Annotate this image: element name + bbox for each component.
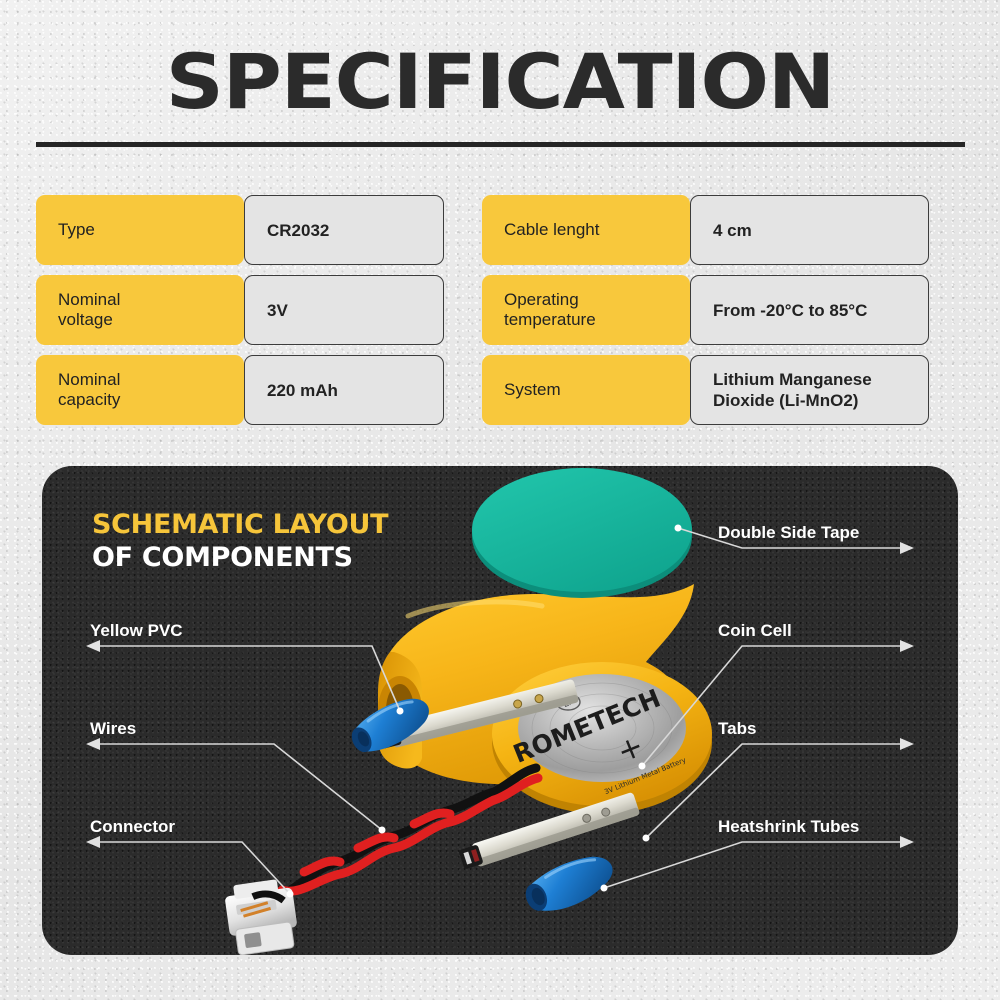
callout-coin-cell: Coin Cell (718, 621, 792, 641)
specification-table: Type CR2032 Cable lenght 4 cm Nominal vo… (36, 195, 965, 425)
heatshrink-tube-lower-part (519, 848, 620, 921)
callout-heatshrink-tubes: Heatshrink Tubes (718, 817, 859, 837)
spec-label: Nominal voltage (36, 275, 244, 345)
callout-yellow-pvc: Yellow PVC (90, 621, 183, 641)
schematic-panel: SCHEMATIC LAYOUT OF COMPONENTS (42, 466, 958, 955)
spec-value: From -20°C to 85°C (690, 275, 929, 345)
spec-label: Type (36, 195, 244, 265)
spec-label: Cable lenght (482, 195, 690, 265)
callout-wires: Wires (90, 719, 136, 739)
spec-label: System (482, 355, 690, 425)
coin-cell-part: ROMETECH + 3V Lithium Metal Battery Li (492, 662, 712, 814)
spec-value: 4 cm (690, 195, 929, 265)
spec-label: Operating temperature (482, 275, 690, 345)
header-divider (36, 142, 965, 147)
spec-value: 3V (244, 275, 444, 345)
page-title: SPECIFICATION (0, 44, 1000, 120)
connector-part (223, 877, 300, 955)
spec-value: 220 mAh (244, 355, 444, 425)
callout-tabs: Tabs (718, 719, 756, 739)
callout-connector: Connector (90, 817, 175, 837)
double-side-tape-part (472, 468, 692, 598)
callout-double-side-tape: Double Side Tape (718, 523, 859, 543)
wires-part (280, 768, 538, 896)
column-gap (444, 195, 482, 265)
spec-value: CR2032 (244, 195, 444, 265)
spec-label: Nominal capacity (36, 355, 244, 425)
column-gap (444, 355, 482, 425)
spec-value: Lithium Manganese Dioxide (Li-MnO2) (690, 355, 929, 425)
column-gap (444, 275, 482, 345)
